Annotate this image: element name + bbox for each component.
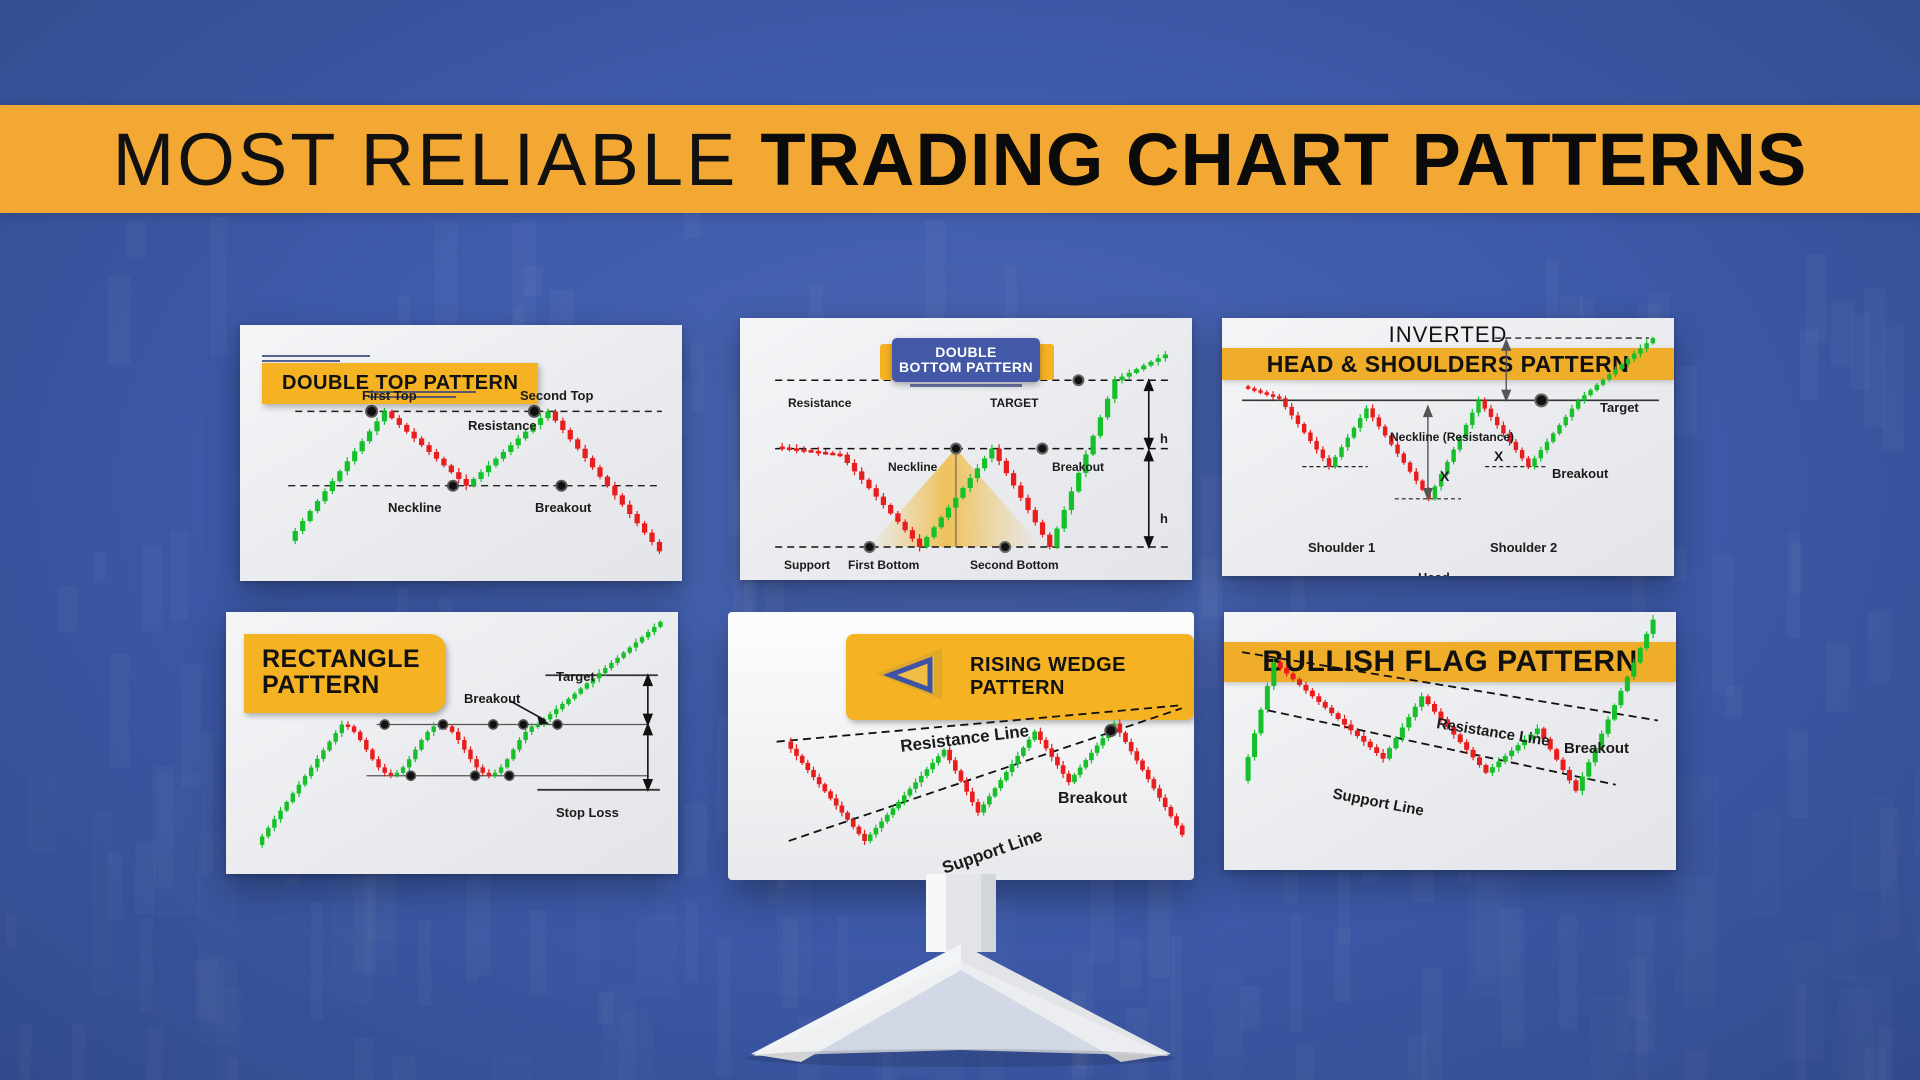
label-breakout: Breakout <box>535 500 591 515</box>
inverted-hs-svg <box>1222 318 1674 529</box>
label-second-top: Second Top <box>520 388 593 403</box>
label-resistance: Resistance <box>468 418 537 433</box>
label-first-top: First Top <box>362 388 417 403</box>
label-measure-h-lower: h <box>1160 511 1168 526</box>
label-shoulder-2: Shoulder 2 <box>1490 540 1557 555</box>
label-measure-h-upper: h <box>1160 431 1168 446</box>
label-head: Head <box>1418 570 1450 576</box>
panel-double-top[interactable]: DOUBLE TOP PATTERN First Top Second Top … <box>240 325 682 581</box>
label-stop-loss: Stop Loss <box>556 805 619 820</box>
label-target: Target <box>1600 400 1639 415</box>
label-measure-x-upper: X <box>1494 448 1503 464</box>
label-target: TARGET <box>990 396 1038 410</box>
chart-inverted-hs <box>1222 318 1674 576</box>
label-measure-x-lower: X <box>1440 468 1449 484</box>
badge-deco-top2 <box>262 360 340 362</box>
badge-deco-top <box>262 355 370 357</box>
label-first-bottom: First Bottom <box>848 558 919 572</box>
page-title-banner: MOST RELIABLE TRADING CHART PATTERNS <box>0 105 1920 213</box>
label-target: Target <box>556 669 595 684</box>
label-breakout: Breakout <box>464 691 520 706</box>
panel-bullish-flag[interactable]: BULLISH FLAG PATTERN Resistance Line Sup… <box>1224 612 1676 870</box>
label-breakout: Breakout <box>1564 740 1629 757</box>
panel-badge-line1: DOUBLE <box>935 345 997 360</box>
panel-double-bottom[interactable]: DOUBLE BOTTOM PATTERN Resistance TARGET … <box>740 318 1192 580</box>
label-shoulder-1: Shoulder 1 <box>1308 540 1375 555</box>
label-breakout: Breakout <box>1052 460 1104 474</box>
panel-rising-wedge[interactable]: RISING WEDGE PATTERN Resistance Line Sup… <box>728 612 1194 880</box>
panel-rectangle[interactable]: RECTANGLE PATTERN Target Breakout <box>226 612 678 874</box>
label-breakout: Breakout <box>1552 466 1608 481</box>
label-support: Support <box>784 558 830 572</box>
panel-badge-double-bottom[interactable]: DOUBLE BOTTOM PATTERN <box>892 338 1040 382</box>
chart-rectangle <box>226 612 678 874</box>
ribbon-underline <box>910 384 1022 387</box>
label-neckline: Neckline <box>888 460 937 474</box>
label-neckline: Neckline <box>388 500 441 515</box>
panel-badge-line2: BOTTOM PATTERN <box>899 360 1033 375</box>
page-title-light: MOST RELIABLE <box>113 117 739 202</box>
page-title-bold: TRADING CHART PATTERNS <box>760 117 1807 202</box>
rectangle-svg <box>226 612 678 863</box>
label-neckline-resistance: Neckline (Resistance) <box>1390 430 1514 444</box>
panel-inverted-head-shoulders[interactable]: INVERTED HEAD & SHOULDERS PATTERN Target… <box>1222 318 1674 576</box>
label-breakout: Breakout <box>1058 790 1127 808</box>
label-second-bottom: Second Bottom <box>970 558 1059 572</box>
label-resistance: Resistance <box>788 396 851 410</box>
